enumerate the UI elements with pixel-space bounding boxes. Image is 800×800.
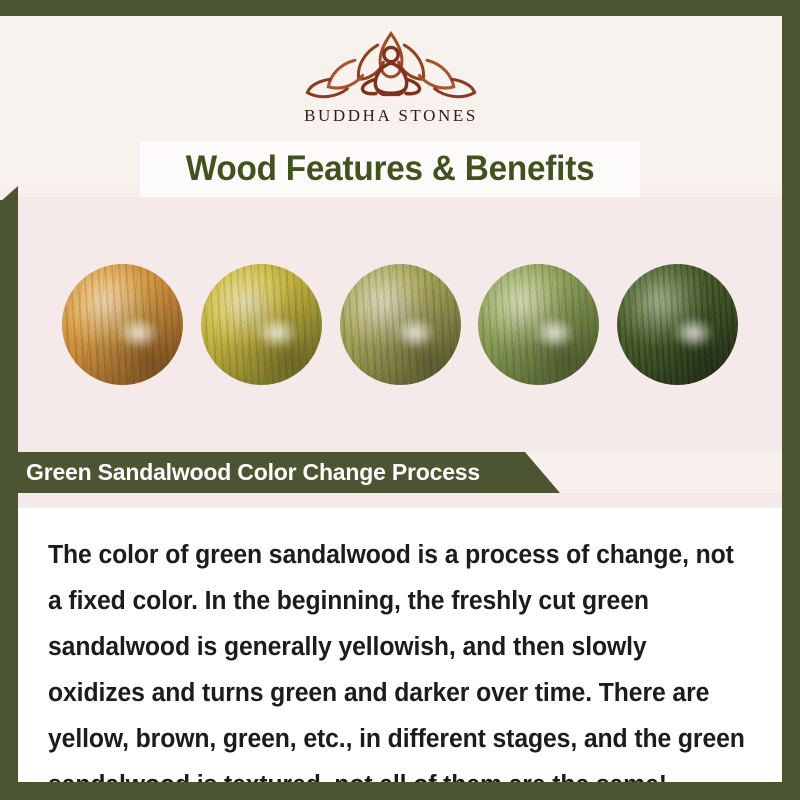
page-title: Wood Features & Benefits bbox=[186, 149, 595, 189]
bead-highlight bbox=[673, 317, 714, 348]
brand-name: BUDDHA STONES bbox=[304, 106, 478, 126]
bead-highlight bbox=[256, 317, 297, 348]
body-paragraph: The color of green sandalwood is a proce… bbox=[48, 532, 748, 800]
lotus-meditation-icon bbox=[296, 26, 486, 104]
bead-highlight bbox=[395, 317, 436, 348]
section-heading: Green Sandalwood Color Change Process bbox=[26, 459, 480, 486]
body-panel: The color of green sandalwood is a proce… bbox=[18, 508, 800, 782]
frame-bottom-border bbox=[0, 782, 800, 800]
bead-stage-2 bbox=[201, 264, 322, 385]
brand-header: BUDDHA STONES bbox=[0, 16, 782, 138]
bead-color-stages bbox=[18, 197, 782, 452]
title-band: Wood Features & Benefits bbox=[140, 141, 640, 197]
section-banner: Green Sandalwood Color Change Process bbox=[0, 452, 560, 493]
frame-top-border bbox=[0, 0, 800, 16]
bead-stage-3 bbox=[340, 264, 461, 385]
bead-stage-4 bbox=[478, 264, 599, 385]
banner-gap bbox=[18, 493, 782, 508]
poster-canvas: BUDDHA STONES Wood Features & Benefits bbox=[0, 0, 800, 800]
bead-highlight bbox=[534, 317, 575, 348]
frame-left-bevel bbox=[0, 186, 18, 202]
frame-right-border bbox=[782, 0, 800, 800]
bead-stage-5 bbox=[617, 264, 738, 385]
frame-left-border bbox=[0, 200, 18, 800]
bead-stage-1 bbox=[62, 264, 183, 385]
bead-highlight bbox=[118, 317, 159, 348]
